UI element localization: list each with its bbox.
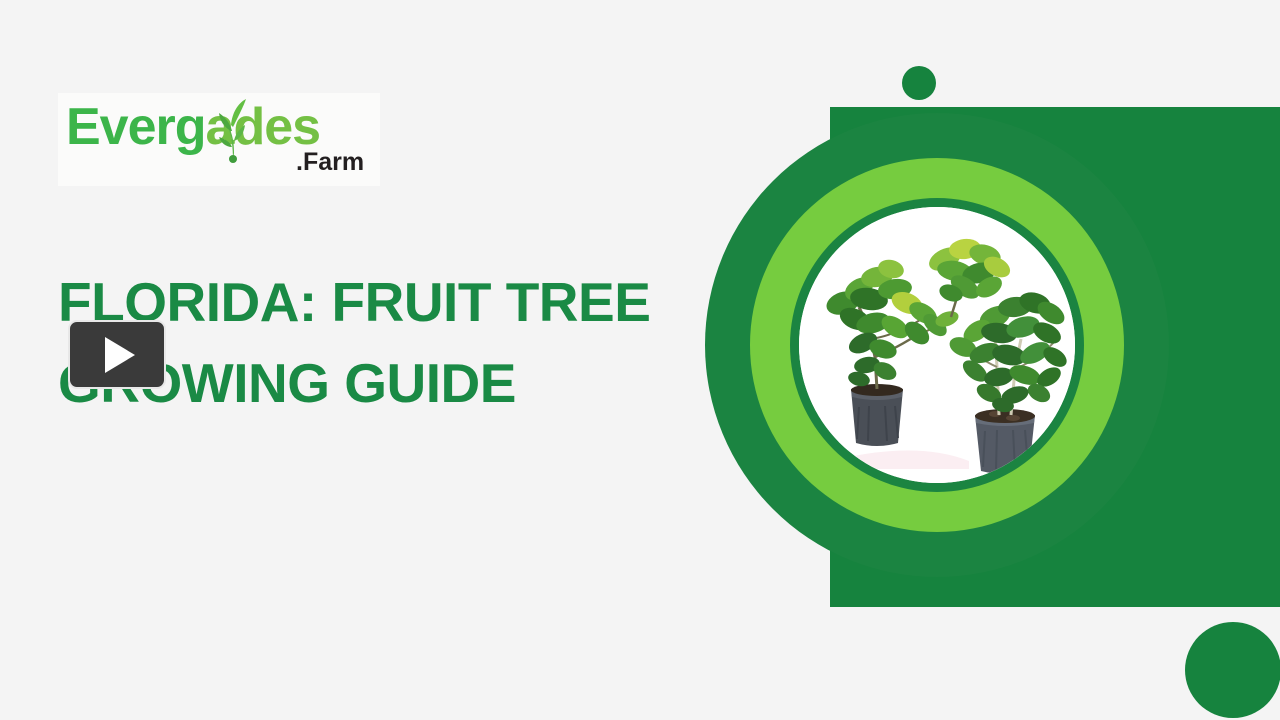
sprout-leaf-icon <box>214 97 248 163</box>
play-triangle-icon <box>105 337 135 373</box>
logo-tld: .Farm <box>296 150 364 175</box>
ring-badge <box>705 113 1169 607</box>
fruit-tree-photo <box>799 207 1075 483</box>
play-button[interactable] <box>68 320 166 389</box>
brand-logo[interactable]: Evergades .Farm <box>58 93 380 186</box>
decorative-top-dot <box>902 66 936 100</box>
presentation-slide: Evergades .Farm FLORIDA: FRUIT TREE GROW… <box>0 0 1280 720</box>
logo-wordmark: Evergades <box>66 101 320 153</box>
decorative-bottom-dot <box>1185 622 1280 718</box>
logo-word-first: Everg <box>66 98 206 156</box>
